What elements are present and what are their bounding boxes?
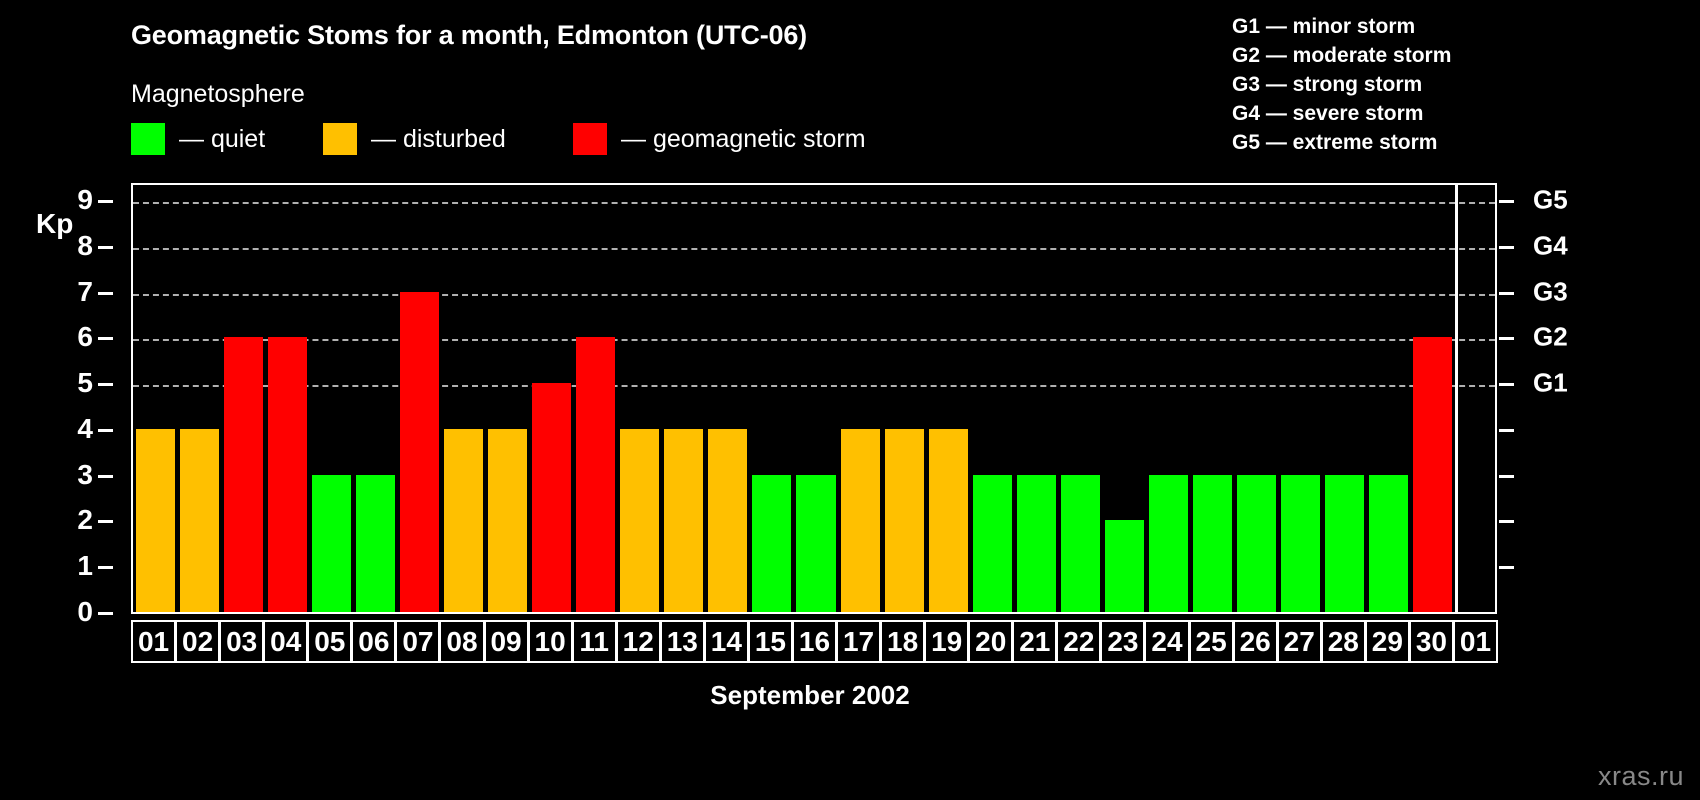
- y-axis-kp: 9876543210: [0, 183, 131, 614]
- bar-day-26: [1237, 475, 1276, 612]
- chart-plot-area: [131, 183, 1497, 614]
- bar-day-28: [1325, 475, 1364, 612]
- day-label-8: 08: [439, 620, 484, 663]
- g-minor-tick-kp-3: [1499, 475, 1514, 478]
- x-axis-title: September 2002: [0, 680, 1620, 711]
- gscale-legend: G1 — minor stormG2 — moderate stormG3 — …: [1232, 12, 1451, 157]
- bar-day-24: [1149, 475, 1188, 612]
- y-tick-mark-6: [98, 337, 113, 340]
- bar-day-22: [1061, 475, 1100, 612]
- y-tick-mark-3: [98, 475, 113, 478]
- y-tick-mark-2: [98, 520, 113, 523]
- g-tick-label-G1: G1: [1533, 368, 1568, 399]
- y-axis-title: Kp: [36, 208, 73, 240]
- legend-item-quiet: — quiet: [131, 123, 265, 155]
- day-label-2: 02: [175, 620, 220, 663]
- legend-label-disturbed: — disturbed: [371, 127, 506, 152]
- bar-day-02: [180, 429, 219, 612]
- bar-day-08: [444, 429, 483, 612]
- day-label-4: 04: [263, 620, 308, 663]
- day-label-15: 15: [748, 620, 793, 663]
- bar-day-27: [1281, 475, 1320, 612]
- day-label-3: 03: [219, 620, 264, 663]
- day-label-23: 23: [1100, 620, 1145, 663]
- y-tick-label-1: 1: [77, 550, 93, 582]
- legend-item-storm: — geomagnetic storm: [573, 123, 866, 155]
- day-label-31: 01: [1453, 620, 1498, 663]
- bar-day-03: [224, 337, 263, 612]
- bar-day-11: [576, 337, 615, 612]
- y-tick-label-8: 8: [77, 230, 93, 262]
- g-tick-label-G2: G2: [1533, 322, 1568, 353]
- y-tick-label-0: 0: [77, 596, 93, 628]
- page-title: Geomagnetic Stoms for a month, Edmonton …: [131, 20, 807, 51]
- y-tick-label-6: 6: [77, 321, 93, 353]
- bar-day-21: [1017, 475, 1056, 612]
- day-label-29: 29: [1365, 620, 1410, 663]
- day-label-25: 25: [1189, 620, 1234, 663]
- gscale-row-5: G5 — extreme storm: [1232, 128, 1451, 157]
- day-label-28: 28: [1321, 620, 1366, 663]
- y-tick-mark-4: [98, 429, 113, 432]
- bar-day-07: [400, 292, 439, 612]
- day-label-11: 11: [572, 620, 617, 663]
- bar-day-13: [664, 429, 703, 612]
- g-tick-label-G3: G3: [1533, 276, 1568, 307]
- legend-label-storm: — geomagnetic storm: [621, 127, 866, 152]
- bar-day-30: [1413, 337, 1452, 612]
- site-watermark: xras.ru: [1598, 761, 1684, 792]
- y-tick-label-4: 4: [77, 413, 93, 445]
- g-tick-mark-G5: [1499, 200, 1514, 203]
- y-tick-mark-5: [98, 383, 113, 386]
- magnetosphere-section-label: Magnetosphere: [131, 80, 305, 109]
- g-tick-mark-G4: [1499, 246, 1514, 249]
- day-label-26: 26: [1233, 620, 1278, 663]
- gscale-row-2: G2 — moderate storm: [1232, 41, 1451, 70]
- bar-day-10: [532, 383, 571, 612]
- day-label-18: 18: [880, 620, 925, 663]
- day-label-10: 10: [528, 620, 573, 663]
- bar-day-09: [488, 429, 527, 612]
- y-tick-label-7: 7: [77, 276, 93, 308]
- bar-day-04: [268, 337, 307, 612]
- bar-day-25: [1193, 475, 1232, 612]
- g-minor-tick-kp-2: [1499, 520, 1514, 523]
- day-label-20: 20: [968, 620, 1013, 663]
- bar-day-29: [1369, 475, 1408, 612]
- legend-item-disturbed: — disturbed: [323, 123, 506, 155]
- y-tick-mark-0: [98, 612, 113, 615]
- legend-label-quiet: — quiet: [179, 127, 265, 152]
- gscale-row-3: G3 — strong storm: [1232, 70, 1451, 99]
- day-label-24: 24: [1144, 620, 1189, 663]
- bar-day-17: [841, 429, 880, 612]
- y-tick-mark-7: [98, 292, 113, 295]
- g-tick-label-G5: G5: [1533, 185, 1568, 216]
- bar-day-05: [312, 475, 351, 612]
- day-label-5: 05: [307, 620, 352, 663]
- day-label-9: 09: [484, 620, 529, 663]
- bar-day-14: [708, 429, 747, 612]
- y-tick-mark-8: [98, 246, 113, 249]
- green-square-swatch: [131, 123, 165, 155]
- day-label-19: 19: [924, 620, 969, 663]
- g-minor-tick-kp-4: [1499, 429, 1514, 432]
- bar-day-16: [796, 475, 835, 612]
- y-tick-label-9: 9: [77, 184, 93, 216]
- g-tick-mark-G3: [1499, 292, 1514, 295]
- day-label-30: 30: [1409, 620, 1454, 663]
- gscale-row-1: G1 — minor storm: [1232, 12, 1451, 41]
- bar-day-18: [885, 429, 924, 612]
- day-label-7: 07: [395, 620, 440, 663]
- bar-day-15: [752, 475, 791, 612]
- day-label-17: 17: [836, 620, 881, 663]
- bar-day-01: [136, 429, 175, 612]
- day-label-14: 14: [704, 620, 749, 663]
- bar-day-20: [973, 475, 1012, 612]
- g-tick-label-G4: G4: [1533, 230, 1568, 261]
- g-minor-tick-kp-1: [1499, 566, 1514, 569]
- y-tick-mark-9: [98, 200, 113, 203]
- bar-day-12: [620, 429, 659, 612]
- bar-day-23: [1105, 520, 1144, 612]
- day-label-22: 22: [1056, 620, 1101, 663]
- x-axis-day-labels: 0102030405060708091011121314151617181920…: [131, 620, 1500, 663]
- y-tick-label-2: 2: [77, 504, 93, 536]
- day-label-13: 13: [660, 620, 705, 663]
- day-label-6: 06: [351, 620, 396, 663]
- bar-day-06: [356, 475, 395, 612]
- day-label-12: 12: [616, 620, 661, 663]
- red-square-swatch: [573, 123, 607, 155]
- y-tick-mark-1: [98, 566, 113, 569]
- day-label-16: 16: [792, 620, 837, 663]
- g-tick-mark-G1: [1499, 383, 1514, 386]
- plot-inner: [133, 185, 1495, 612]
- month-end-divider: [1455, 185, 1458, 612]
- day-label-1: 01: [131, 620, 176, 663]
- bar-day-19: [929, 429, 968, 612]
- bar-series: [133, 185, 1495, 612]
- gscale-row-4: G4 — severe storm: [1232, 99, 1451, 128]
- day-label-27: 27: [1277, 620, 1322, 663]
- y-tick-label-3: 3: [77, 459, 93, 491]
- y-tick-label-5: 5: [77, 367, 93, 399]
- g-tick-mark-G2: [1499, 337, 1514, 340]
- y-axis-gscale: G5G4G3G2G1: [1497, 183, 1700, 614]
- orange-square-swatch: [323, 123, 357, 155]
- day-label-21: 21: [1012, 620, 1057, 663]
